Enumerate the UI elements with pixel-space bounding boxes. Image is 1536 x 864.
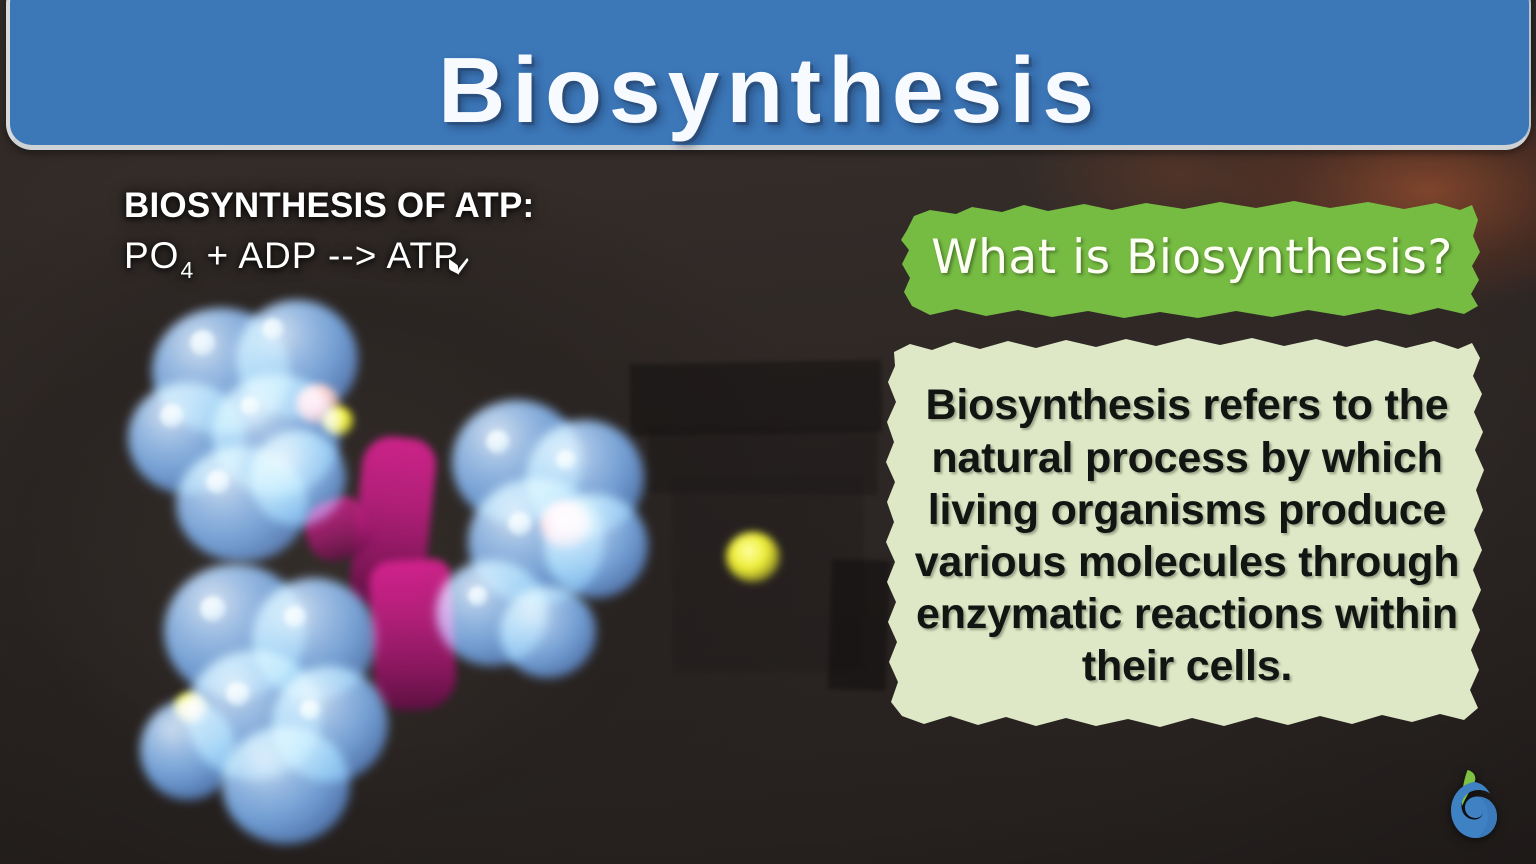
molecule-speckle: [226, 682, 250, 706]
definition-text: Biosynthesis refers to the natural proce…: [902, 354, 1472, 718]
atp-biosynthesis-panel: BIOSYNTHESIS OF ATP: PO4 + ADP --> ATP: [124, 186, 534, 284]
equation-subscript: 4: [179, 257, 195, 283]
page-header: Biosynthesis: [6, 0, 1531, 150]
molecule-hotspot-yellow: [322, 406, 354, 436]
chevron-down-icon: [442, 250, 476, 284]
equation-formula-rest: + ADP --> ATP: [195, 235, 459, 276]
biology-online-b-logo-icon[interactable]: [1442, 768, 1502, 842]
molecule-speckle: [284, 606, 306, 628]
definition-card: Biosynthesis refers to the natural proce…: [884, 336, 1488, 732]
molecule-speckle: [468, 586, 488, 606]
molecule-hotspot-yellow: [726, 532, 780, 582]
question-banner: What is Biosynthesis?: [898, 196, 1486, 322]
molecule-speckle: [240, 396, 260, 416]
molecule-hotspot-yellow: [174, 692, 208, 724]
molecule-speckle: [200, 596, 226, 622]
molecule-globule-blue: [500, 586, 596, 678]
molecule-speckle: [486, 430, 510, 454]
atp-panel-heading: BIOSYNTHESIS OF ATP:: [124, 186, 534, 226]
molecule-speckle: [262, 318, 284, 340]
molecule-speckle: [206, 470, 230, 494]
equation-formula-prefix: PO: [124, 235, 179, 276]
infographic-canvas: Biosynthesis BIOSYNTHESIS OF ATP: PO4 + …: [0, 0, 1536, 864]
background-fragment: [828, 559, 891, 691]
molecule-globule-blue: [250, 430, 346, 526]
page-title: Biosynthesis: [438, 44, 1101, 137]
molecule-hotspot-orange: [540, 500, 590, 548]
question-banner-label: What is Biosynthesis?: [898, 196, 1486, 322]
molecule-speckle: [160, 404, 184, 428]
molecule-speckle: [190, 330, 216, 356]
molecule-globule-blue: [222, 726, 350, 844]
molecule-speckle: [300, 700, 320, 720]
molecule-speckle: [556, 450, 576, 470]
molecule-speckle: [508, 512, 532, 536]
